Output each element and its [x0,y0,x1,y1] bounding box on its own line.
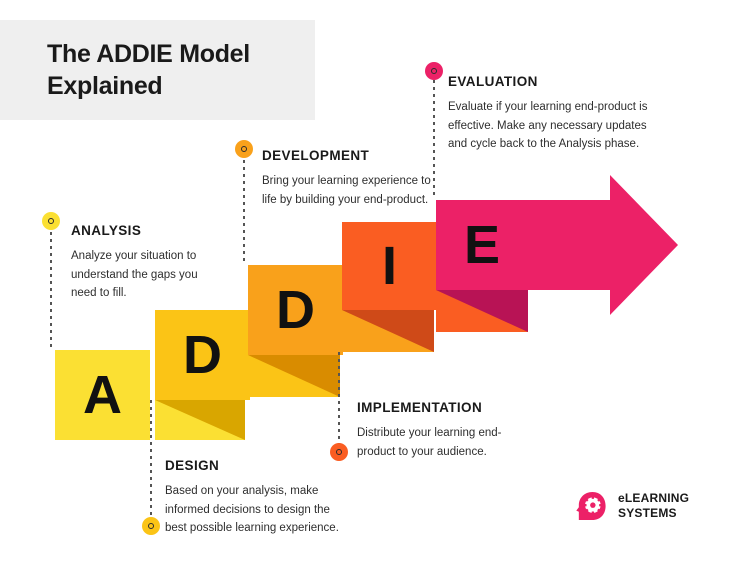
marker-design[interactable] [142,517,160,535]
marker-evaluation[interactable] [425,62,443,80]
marker-development[interactable] [235,140,253,158]
letter-block-e-label: E [464,218,500,272]
brand-logo-text: eLEARNING SYSTEMS [618,491,689,522]
letter-block-i: I [342,222,437,310]
phase-analysis-body: Analyze your situation to understand the… [71,247,203,303]
letter-block-d2-shadow [248,355,340,397]
letter-block-a-face: A [55,350,150,440]
letter-block-d2: D [248,265,343,355]
phase-evaluation-body: Evaluate if your learning end-product is… [448,98,658,154]
letter-block-e-arrow: E [436,175,678,315]
letter-block-d1: D [155,310,250,400]
phase-evaluation-title: EVALUATION [448,74,658,89]
phase-development-title: DEVELOPMENT [262,148,434,163]
brand-logo: eLEARNING SYSTEMS [575,489,689,523]
phase-evaluation: EVALUATION Evaluate if your learning end… [448,74,658,154]
letter-block-d2-face: D [248,265,343,355]
connector-implementation [338,352,340,444]
letter-block-i-face: I [342,222,437,310]
connector-development [243,160,245,265]
head-gear-icon [575,489,609,523]
phase-analysis: ANALYSIS Analyze your situation to under… [71,223,203,303]
letter-block-i-label: I [382,239,397,293]
phase-implementation-body: Distribute your learning end-product to … [357,424,505,461]
phase-development: DEVELOPMENT Bring your learning experien… [262,148,434,209]
letter-block-d2-label: D [276,283,315,337]
phase-design-title: DESIGN [165,458,340,473]
phase-development-body: Bring your learning experience to life b… [262,172,434,209]
phase-design: DESIGN Based on your analysis, make info… [165,458,340,538]
letter-block-a-label: A [83,368,122,422]
page-title: The ADDIE Model Explained [47,38,347,102]
letter-block-d1-face: D [155,310,250,400]
letter-block-d1-label: D [183,328,222,382]
infographic-canvas: The ADDIE Model Explained A D D I [0,0,730,564]
phase-implementation: IMPLEMENTATION Distribute your learning … [357,400,505,461]
phase-analysis-title: ANALYSIS [71,223,203,238]
letter-block-a: A [55,350,150,440]
phase-design-body: Based on your analysis, make informed de… [165,482,340,538]
phase-implementation-title: IMPLEMENTATION [357,400,505,415]
connector-design [150,400,152,525]
letter-block-d1-shadow [155,400,245,440]
marker-analysis[interactable] [42,212,60,230]
connector-analysis [50,225,52,350]
letter-block-i-shadow [342,310,434,352]
